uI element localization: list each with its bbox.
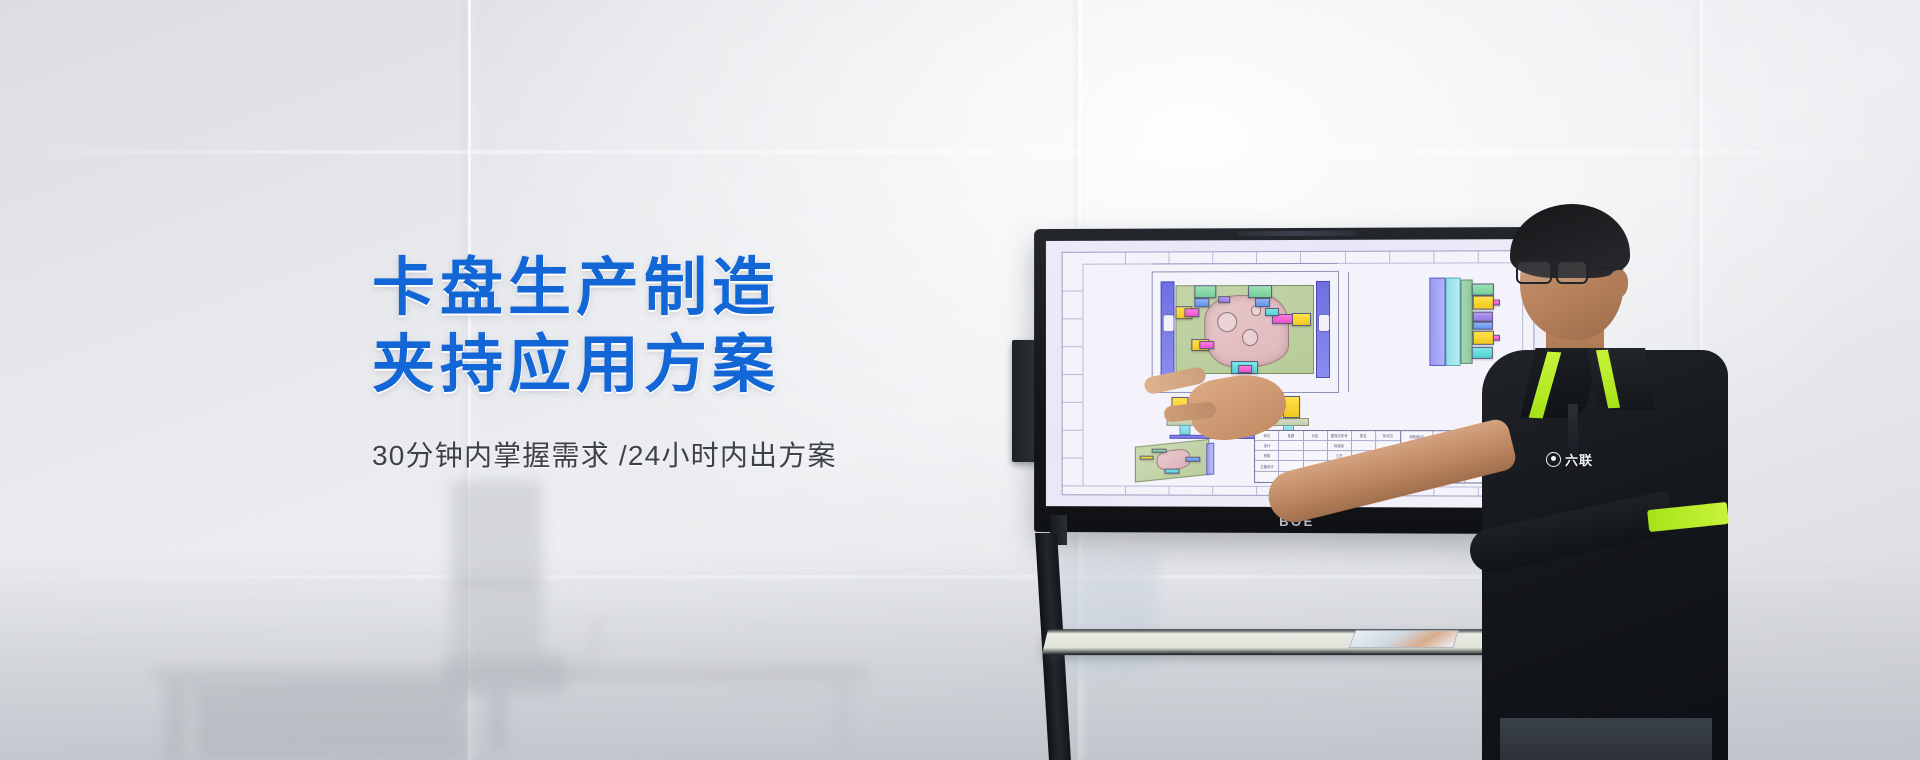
background-monitor [1050,552,1158,680]
table-cell [1303,441,1327,450]
clamp-unit [1184,308,1199,317]
table-cell: 主管设计 [1255,461,1279,470]
clamp-unit [1265,308,1279,316]
background-desk-leg [838,676,847,760]
wall-band [0,150,1920,154]
fixture-side-plate [1207,443,1215,476]
presenter-ear [1608,270,1628,298]
presenter: 六联 [1452,198,1752,760]
table-cell [1279,441,1303,450]
chest-logo: 六联 [1546,448,1604,470]
clamp-unit [1164,469,1179,474]
background-chair-arm [537,615,599,671]
table-cell [1303,451,1327,460]
clamp-unit [1140,455,1153,460]
table-cell: 分区 [1303,431,1327,440]
background-chair-back [450,480,543,662]
table-cell: 处数 [1279,431,1303,440]
fixture-side-plate [1161,281,1174,378]
background-chair-detail [455,580,538,585]
fixture-leg [1179,425,1190,436]
camera-icon [1237,231,1357,236]
glasses-icon [1556,260,1588,284]
headline-line-2: 夹持应用方案 [372,327,1012,404]
table-cell: 标准化 [1328,441,1352,450]
table-cell: 签名 [1352,431,1376,440]
background-desk-body [165,680,465,760]
subheadline: 30分钟内掌握需求 /24小时内出方案 [372,434,1012,474]
cad-iso-view [1133,439,1227,480]
shelf-document [1348,630,1458,648]
background-chair-post [492,690,504,750]
company-mark-icon [1546,452,1561,467]
workpiece [1205,295,1290,367]
fixture-side-plate [1316,281,1330,379]
sheet-side-column [1063,263,1083,486]
glasses-icon [1516,260,1552,284]
hero-banner: 卡盘生产制造 夹持应用方案 30分钟内掌握需求 /24小时内出方案 [0,0,1920,760]
fixture-side-plate [1429,278,1446,366]
table-cell: 年月日 [1376,431,1400,440]
background-desk-leg [186,686,196,760]
clamp-unit [1255,298,1270,307]
clamp-unit [1199,341,1214,349]
headline-line-1: 卡盘生产制造 [372,250,1012,327]
clamp-unit [1185,457,1200,461]
clamp-unit [1292,313,1311,326]
table-cell: 校核 [1255,451,1279,460]
clamp-unit [1151,449,1166,453]
table-cell: 更改文件号 [1328,431,1352,440]
clamp-unit [1238,365,1252,374]
headline-block: 卡盘生产制造 夹持应用方案 30分钟内掌握需求 /24小时内出方案 [372,250,1012,474]
presenter-hip [1500,718,1712,760]
clamp-unit [1218,297,1230,304]
clamp-unit [1194,299,1209,308]
table-cell [1279,451,1303,460]
clamp-unit [1194,285,1216,299]
chest-logo-text: 六联 [1565,450,1593,469]
table-cell: 设计 [1255,441,1279,450]
glasses-bridge [1551,268,1559,270]
clamp-unit [1248,285,1272,299]
table-row: 标记 处数 分区 更改文件号 签名 年月日 [1255,430,1400,441]
cad-plan-view [1161,281,1330,379]
